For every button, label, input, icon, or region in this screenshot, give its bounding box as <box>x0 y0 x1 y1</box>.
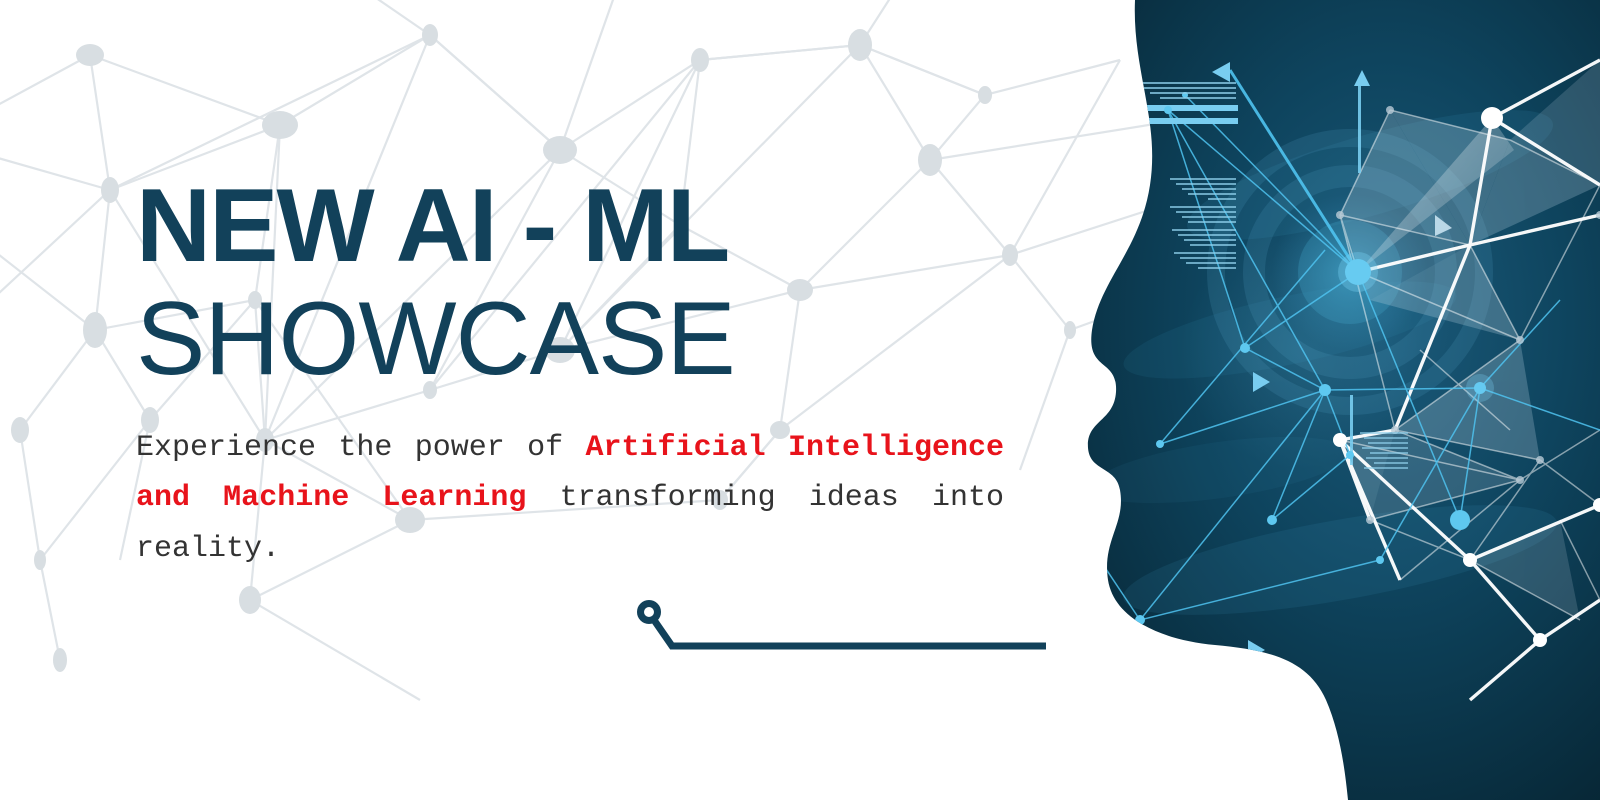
ai-head-artwork <box>1040 0 1600 800</box>
banner-subtitle: Experience the power of Artificial Intel… <box>136 423 1004 574</box>
circuit-trace-node <box>641 604 658 621</box>
headline-line-1: NEW AI - ML <box>136 176 1041 277</box>
circuit-trace-path <box>654 620 1046 646</box>
headline-line-2: SHOWCASE <box>136 287 1041 391</box>
subtitle-lead: Experience the power of <box>136 431 586 465</box>
ai-ml-showcase-banner: NEW AI - ML SHOWCASE Experience the powe… <box>0 0 1600 800</box>
circuit-trace-decoration <box>636 598 1046 666</box>
banner-content: NEW AI - ML SHOWCASE Experience the powe… <box>136 176 1041 574</box>
